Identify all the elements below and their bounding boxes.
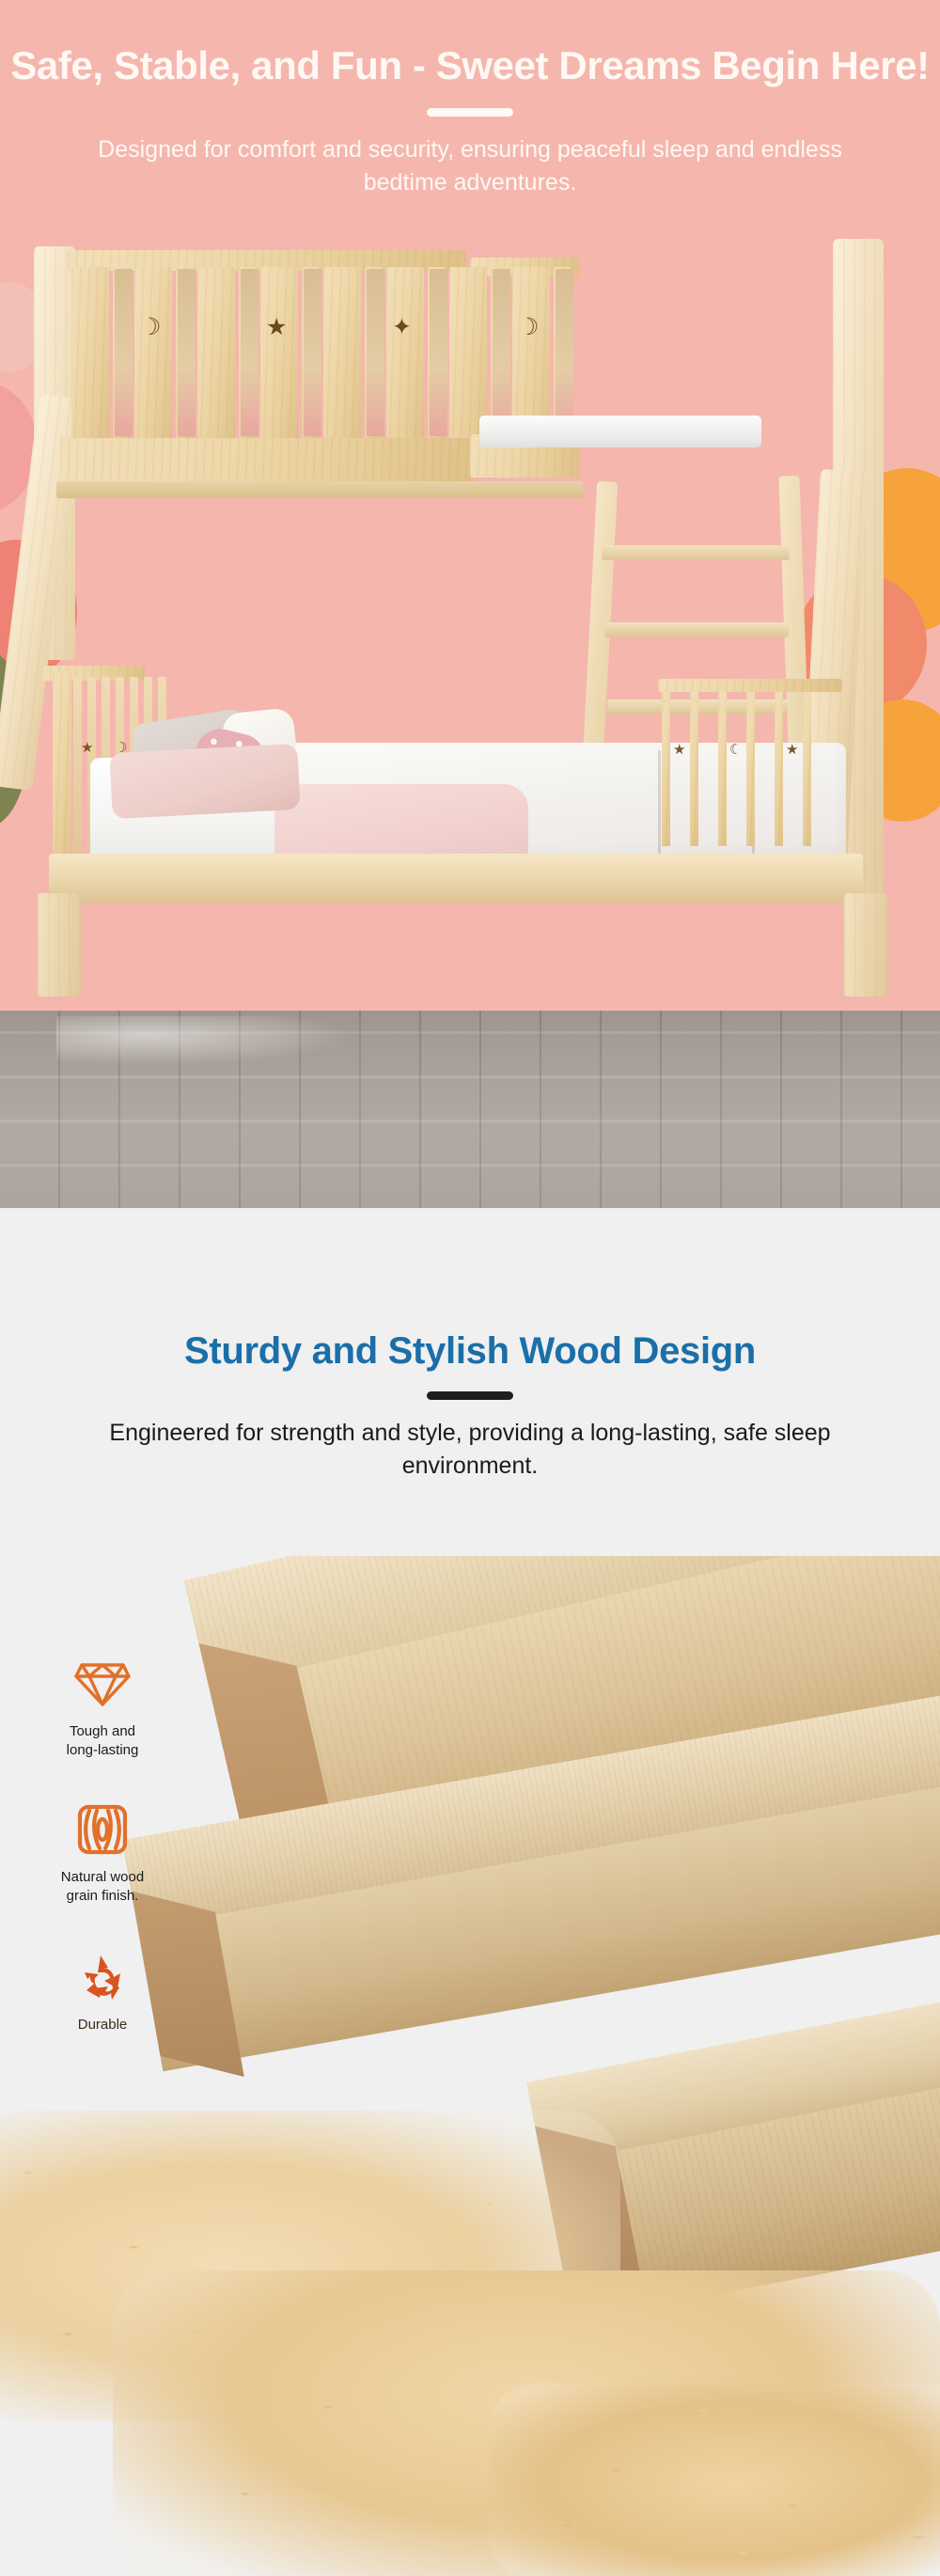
guardrail-gap: [178, 269, 196, 436]
bed-leg-right: [844, 893, 887, 997]
guardrail-gap: [430, 269, 447, 436]
guardrail-carving: ★: [266, 316, 287, 339]
diamond-icon: [69, 1655, 136, 1713]
hero-section: Safe, Stable, and Fun - Sweet Dreams Beg…: [0, 0, 940, 1208]
hero-divider: [427, 108, 513, 117]
lower-bunk-front-frame: [49, 854, 863, 903]
guardrail-gap: [241, 269, 258, 436]
lower-bunk-headboard-post: [53, 673, 71, 861]
feature-label-durable: Durable: [13, 2016, 192, 2034]
guardrail-bottom-bar: [60, 438, 474, 483]
wood-grain-icon: [69, 1800, 136, 1859]
guardrail-carving: ☽: [140, 316, 161, 339]
feature-item-durable: Durable: [13, 1948, 192, 2034]
upper-bunk-mattress: [479, 416, 761, 448]
bed-leg-left: [38, 893, 81, 997]
feature-item-tough: Tough and long-lasting: [13, 1655, 192, 1759]
wood-design-section: Sturdy and Stylish Wood Design Engineere…: [0, 1208, 940, 2576]
feature-item-grain: Natural wood grain finish.: [13, 1800, 192, 1905]
product-detail-page: Safe, Stable, and Fun - Sweet Dreams Beg…: [0, 0, 940, 2576]
guardrail-gap: [115, 269, 133, 436]
wood-shavings-right: [489, 2383, 940, 2576]
guardrail-panel: [386, 267, 424, 438]
wood-copy: Sturdy and Stylish Wood Design Engineere…: [0, 1208, 940, 1483]
guardrail-panel: [323, 267, 361, 438]
wood-floor: [0, 1011, 940, 1208]
wood-section-divider: [427, 1391, 513, 1400]
hero-copy: Safe, Stable, and Fun - Sweet Dreams Beg…: [0, 0, 940, 198]
guardrail-panel: [260, 267, 298, 438]
guardrail-carving: ☽: [518, 316, 539, 339]
guardrail-gap: [493, 269, 510, 436]
guardrail-panel: [449, 267, 487, 438]
headboard-slat: [73, 677, 82, 856]
guardrail-gap: [556, 269, 573, 436]
ladder-step: [602, 545, 790, 560]
hero-subtitle: Designed for comfort and security, ensur…: [56, 134, 884, 198]
guardrail-panel: [197, 267, 235, 438]
guardrail-carving: ✦: [392, 316, 412, 339]
ladder-step: [604, 622, 789, 637]
guardrail-gap: [367, 269, 384, 436]
hero-title: Safe, Stable, and Fun - Sweet Dreams Beg…: [0, 0, 940, 89]
guardrail-panel: [71, 267, 109, 438]
upper-bunk-deck: [56, 481, 583, 498]
guardrail-panel: [134, 267, 172, 438]
guardrail-panel: [512, 267, 550, 438]
feature-list: Tough and long-lasting Natural wood grai…: [13, 1655, 192, 2063]
wood-section-subtitle: Engineered for strength and style, provi…: [56, 1417, 884, 1483]
lower-bunk-pillow-pink: [109, 744, 300, 819]
recycle-icon: [69, 1948, 136, 2006]
headboard-carving: ★: [81, 739, 93, 756]
guardrail-gap: [304, 269, 321, 436]
feature-label-tough: Tough and long-lasting: [13, 1722, 192, 1759]
feature-label-grain: Natural wood grain finish.: [13, 1868, 192, 1905]
wood-section-title: Sturdy and Stylish Wood Design: [0, 1208, 940, 1373]
bunk-bed-product-image: ☽★✦☽ ★☽★: [0, 235, 940, 1208]
lower-bunk-right-panel: ★ ☾ ★: [658, 679, 842, 857]
